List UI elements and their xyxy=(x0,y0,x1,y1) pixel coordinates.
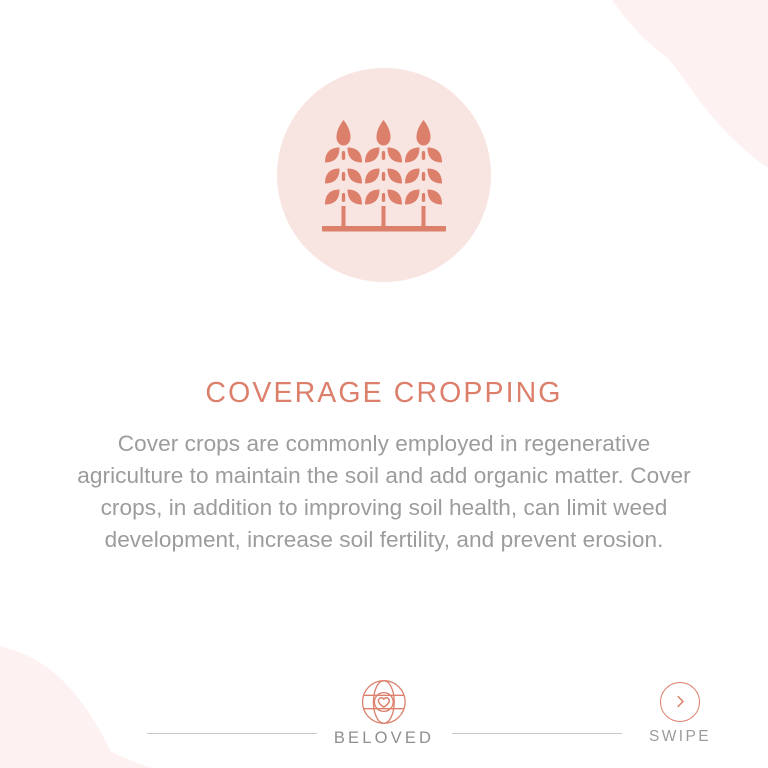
footer: BELOVED SWIPE xyxy=(0,648,768,768)
page-title: COVERAGE CROPPING xyxy=(0,376,768,410)
divider-line-right xyxy=(452,733,622,734)
wheat-crop-rows-icon xyxy=(322,114,446,236)
swipe-label: SWIPE xyxy=(649,729,711,745)
divider-line-left xyxy=(147,733,317,734)
brand-name: BELOVED xyxy=(334,730,434,747)
slide-content: COVERAGE CROPPING Cover crops are common… xyxy=(0,376,768,556)
globe-heart-logo-icon xyxy=(360,678,408,726)
swipe-button[interactable] xyxy=(660,682,700,722)
swipe-control[interactable]: SWIPE xyxy=(632,682,728,745)
body-paragraph: Cover crops are commonly employed in reg… xyxy=(76,428,692,556)
chevron-right-icon xyxy=(673,694,688,709)
hero-icon-badge xyxy=(277,68,491,282)
slide-canvas: COVERAGE CROPPING Cover crops are common… xyxy=(0,0,768,768)
brand-block: BELOVED xyxy=(334,678,434,747)
hero-icon-container xyxy=(0,68,768,282)
